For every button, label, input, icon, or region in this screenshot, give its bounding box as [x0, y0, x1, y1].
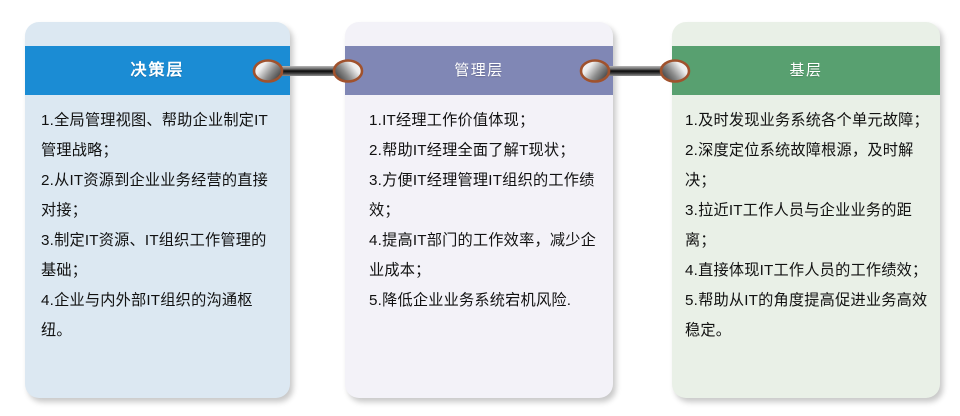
card-management-title: 管理层 [454, 63, 504, 78]
list-item: 4.直接体现IT工作人员的工作绩效； [685, 256, 930, 286]
list-item: 2.深度定位系统故障根源，及时解决； [685, 136, 930, 196]
card-ground-body: 1.及时发现业务系统各个单元故障； 2.深度定位系统故障根源，及时解决； 3.拉… [672, 106, 940, 346]
card-ground-header: 基层 [672, 46, 940, 95]
card-management[interactable]: 管理层 1.IT经理工作价值体现； 2.帮助IT经理全面了解T现状； 3.方便I… [345, 22, 613, 398]
list-item: 1.IT经理工作价值体现； [369, 106, 599, 136]
list-item: 3.方便IT经理管理IT组织的工作绩效； [369, 166, 599, 226]
card-management-body: 1.IT经理工作价值体现； 2.帮助IT经理全面了解T现状； 3.方便IT经理管… [345, 106, 613, 316]
diagram-canvas: 决策层 1.全局管理视图、帮助企业制定IT管理战略； 2.从IT资源到企业业务经… [0, 0, 960, 416]
card-decision-body: 1.全局管理视图、帮助企业制定IT管理战略； 2.从IT资源到企业业务经营的直接… [25, 106, 290, 346]
list-item: 2.帮助IT经理全面了解T现状； [369, 136, 599, 166]
list-item: 1.全局管理视图、帮助企业制定IT管理战略； [41, 106, 276, 166]
connector-decision-to-management [252, 58, 364, 84]
connector-management-to-ground [579, 58, 691, 84]
list-item: 1.及时发现业务系统各个单元故障； [685, 106, 930, 136]
card-ground-item-list: 1.及时发现业务系统各个单元故障； 2.深度定位系统故障根源，及时解决； 3.拉… [685, 106, 930, 346]
card-management-item-list: 1.IT经理工作价值体现； 2.帮助IT经理全面了解T现状； 3.方便IT经理管… [369, 106, 599, 316]
link-bar-icon [252, 58, 364, 84]
link-bar-icon [579, 58, 691, 84]
card-decision-title: 决策层 [130, 63, 184, 79]
list-item: 3.制定IT资源、IT组织工作管理的基础； [41, 226, 276, 286]
card-ground[interactable]: 基层 1.及时发现业务系统各个单元故障； 2.深度定位系统故障根源，及时解决； … [672, 22, 940, 398]
card-decision[interactable]: 决策层 1.全局管理视图、帮助企业制定IT管理战略； 2.从IT资源到企业业务经… [25, 22, 290, 398]
list-item: 4.企业与内外部IT组织的沟通枢纽。 [41, 286, 276, 346]
list-item: 5.降低企业业务系统宕机风险. [369, 286, 599, 316]
list-item: 5.帮助从IT的角度提高促进业务高效稳定。 [685, 286, 930, 346]
card-management-header: 管理层 [345, 46, 613, 95]
card-decision-item-list: 1.全局管理视图、帮助企业制定IT管理战略； 2.从IT资源到企业业务经营的直接… [41, 106, 276, 346]
list-item: 3.拉近IT工作人员与企业业务的距离； [685, 196, 930, 256]
card-decision-header: 决策层 [25, 46, 290, 95]
list-item: 4.提高IT部门的工作效率，减少企业成本； [369, 226, 599, 286]
list-item: 2.从IT资源到企业业务经营的直接对接； [41, 166, 276, 226]
card-ground-title: 基层 [789, 63, 822, 78]
